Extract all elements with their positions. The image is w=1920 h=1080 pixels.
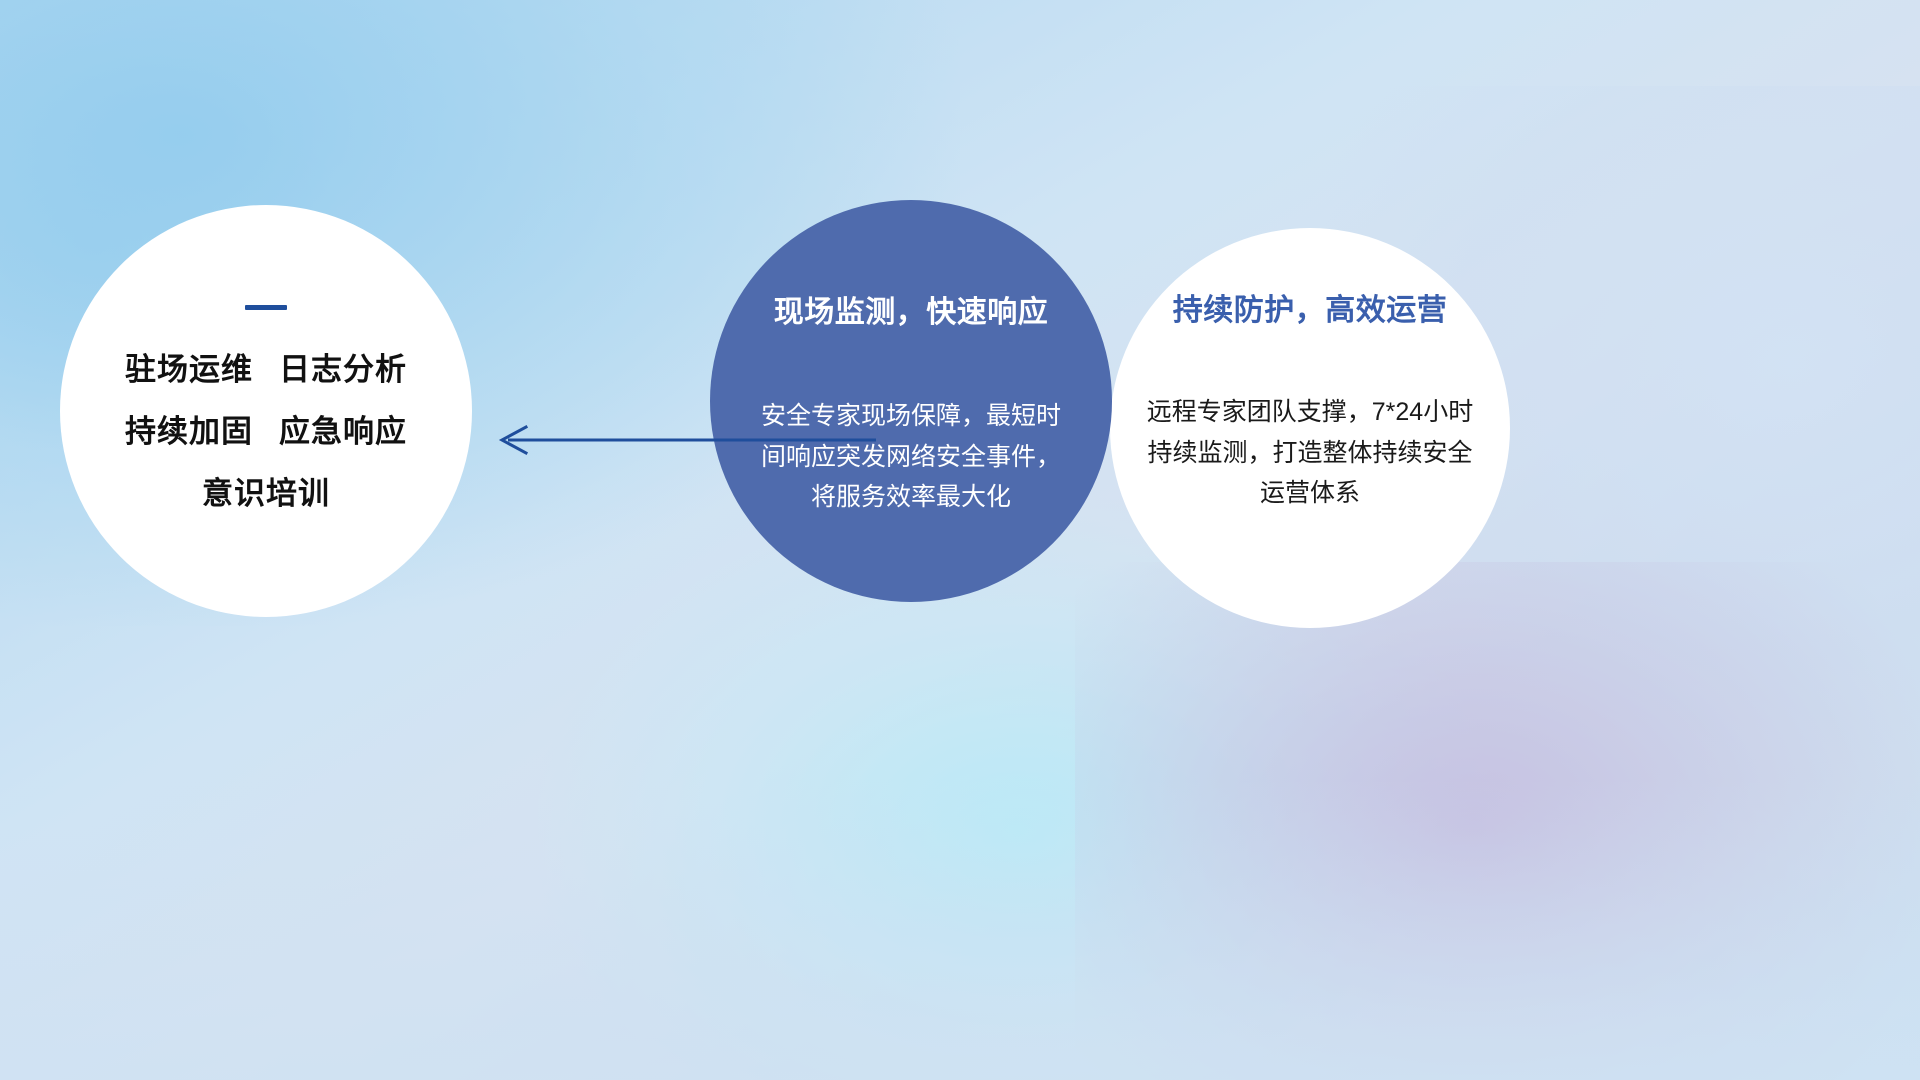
left-circle-line-1: 驻场运维日志分析 — [125, 354, 407, 385]
middle-circle-title: 现场监测，快速响应 — [774, 298, 1049, 328]
background-glow-bottom-fade — [0, 778, 1920, 1080]
middle-circle-body: 安全专家现场保障，最短时间响应突发网络安全事件，将服务效率最大化 — [761, 396, 1061, 518]
right-circle-content: 持续防护，高效运营 远程专家团队支撑，7*24小时持续监测，打造整体持续安全运营… — [1110, 228, 1510, 628]
left-keyword-2b: 应急响应 — [279, 414, 407, 449]
slide-canvas: 驻场运维日志分析 持续加固应急响应 意识培训 现场监测，快速响应 安全专家现场保… — [0, 0, 1920, 1080]
left-circle-line-3: 意识培训 — [202, 478, 330, 509]
right-circle-title: 持续防护，高效运营 — [1173, 296, 1448, 326]
left-keyword-3a: 意识培训 — [202, 476, 330, 511]
left-keyword-1a: 驻场运维 — [125, 352, 253, 387]
left-keyword-2a: 持续加固 — [125, 414, 253, 449]
left-circle-line-2: 持续加固应急响应 — [125, 416, 407, 447]
middle-circle-content: 现场监测，快速响应 安全专家现场保障，最短时间响应突发网络安全事件，将服务效率最… — [710, 200, 1112, 602]
right-circle-body: 远程专家团队支撑，7*24小时持续监测，打造整体持续安全运营体系 — [1138, 392, 1483, 514]
divider-dash-icon — [245, 305, 287, 310]
left-circle-content: 驻场运维日志分析 持续加固应急响应 意识培训 — [60, 205, 472, 617]
left-keyword-1b: 日志分析 — [279, 352, 407, 387]
